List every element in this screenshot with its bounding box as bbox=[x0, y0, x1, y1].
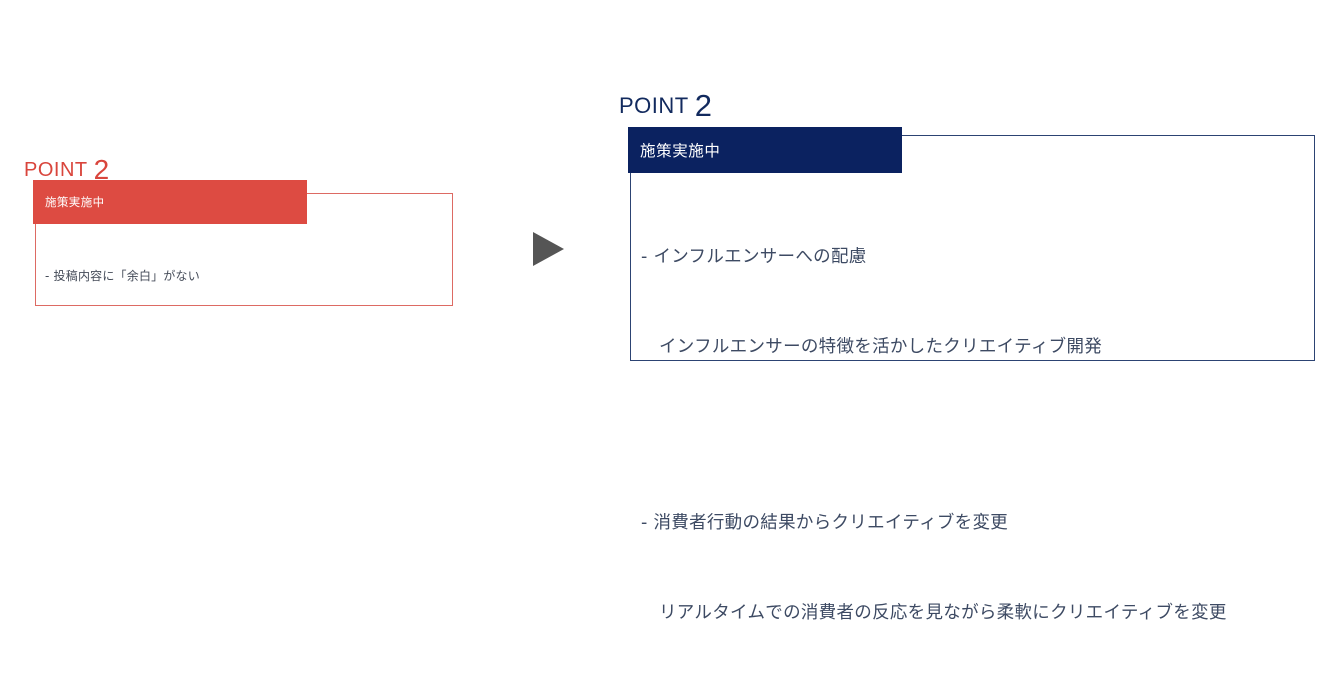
slide-canvas: POINT2 施策実施中 - 投稿内容に「余白」がない POINT2 施策実施中… bbox=[0, 0, 1344, 449]
after-bullet-sub-0: インフルエンサーの特徴を活かしたクリエイティブ開発 bbox=[641, 332, 1321, 362]
triangle-right-icon bbox=[533, 232, 564, 266]
before-panel-body: - 投稿内容に「余白」がない bbox=[45, 226, 445, 326]
before-point-word: POINT bbox=[24, 159, 88, 181]
list-item: - インフルエンサーへの配慮 インフルエンサーの特徴を活かしたクリエイティブ開発 bbox=[641, 182, 1321, 422]
after-panel-header-title: 施策実施中 bbox=[640, 139, 721, 161]
after-point-word: POINT bbox=[619, 93, 689, 118]
after-point-label: POINT2 bbox=[619, 87, 712, 118]
before-point-label: POINT2 bbox=[24, 153, 110, 181]
before-panel-header-title: 施策実施中 bbox=[45, 194, 105, 210]
list-item: - 投稿内容に「余白」がない bbox=[45, 226, 445, 326]
before-panel-header: 施策実施中 bbox=[33, 180, 307, 224]
after-panel-header: 施策実施中 bbox=[628, 127, 902, 173]
list-item: - 消費者行動の結果からクリエイティブを変更 リアルタイムでの消費者の反応を見な… bbox=[641, 448, 1321, 688]
after-bullet-main-1: - 消費者行動の結果からクリエイティブを変更 bbox=[641, 508, 1321, 538]
after-point-number: 2 bbox=[695, 88, 713, 123]
after-bullet-main-0: - インフルエンサーへの配慮 bbox=[641, 242, 1321, 272]
after-panel-body: - インフルエンサーへの配慮 インフルエンサーの特徴を活かしたクリエイティブ開発… bbox=[641, 182, 1321, 688]
before-bullet-main-0: - 投稿内容に「余白」がない bbox=[45, 266, 445, 286]
after-bullet-sub-1: リアルタイムでの消費者の反応を見ながら柔軟にクリエイティブを変更 bbox=[641, 598, 1321, 628]
